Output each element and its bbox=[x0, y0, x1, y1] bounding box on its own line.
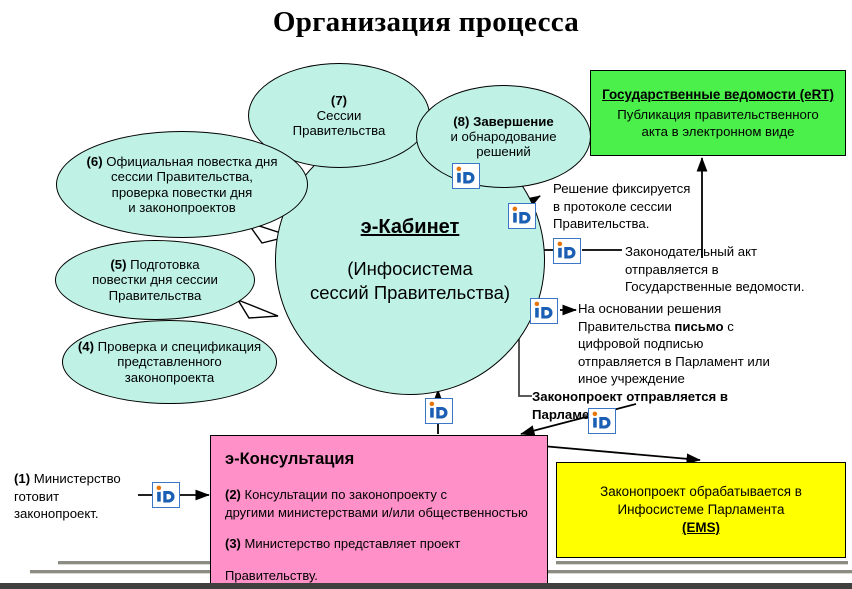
signed-letter-line2a: Правительства bbox=[578, 319, 674, 334]
ecabinet-subtitle-line1: (Инфосистема bbox=[310, 257, 510, 281]
tail-ellipse-5 bbox=[238, 300, 278, 318]
text-bill-to-parliament: Законопроект отправляется в Парламент bbox=[532, 388, 782, 423]
node-step-5[interactable]: (5) Подготовка повестки дня сессии Прави… bbox=[55, 240, 255, 320]
step-1-line1: Министерство bbox=[30, 471, 121, 486]
id-card-icon[interactable] bbox=[152, 482, 180, 508]
signed-letter-line4: отправляется в Парламент или bbox=[578, 353, 838, 371]
id-card-icon[interactable] bbox=[508, 203, 536, 229]
step-7-line2: Правительства bbox=[293, 123, 386, 138]
step-5-line2: повестки дня сессии bbox=[92, 272, 218, 287]
signed-letter-line2: Правительства письмо с bbox=[578, 318, 838, 336]
consultation-item-3-number: (3) bbox=[225, 536, 241, 551]
consultation-item-2-line1: Консультации по законопроекту с bbox=[241, 487, 447, 502]
ems-line1: Законопроект обрабатывается в bbox=[557, 483, 845, 501]
id-card-icon[interactable] bbox=[530, 298, 558, 324]
id-card-icon[interactable] bbox=[588, 408, 616, 434]
bill-to-parliament-line1: Законопроект отправляется в bbox=[532, 388, 782, 406]
gazette-heading: Государственные ведомости (eRT) bbox=[591, 86, 845, 103]
consultation-item-2-number: (2) bbox=[225, 487, 241, 502]
diagram-canvas: Организация процесса bbox=[0, 0, 852, 589]
divider-rule-upper-right bbox=[556, 561, 848, 565]
arrow-consultation-to-ems bbox=[542, 446, 700, 460]
node-parliament-ems[interactable]: Законопроект обрабатывается в Инфосистем… bbox=[556, 462, 846, 558]
step-6-line1: Официальная повестка дня bbox=[103, 154, 278, 169]
step-4-line3: законопроекта bbox=[78, 370, 261, 385]
node-e-consultation[interactable]: э-Консультация (2) Консультации по закон… bbox=[210, 435, 548, 589]
consultation-item-2-line2: другими министерствами и/или общественно… bbox=[225, 505, 528, 520]
gazette-line2: акта в электронном виде bbox=[591, 123, 845, 140]
step-1-number: (1) bbox=[14, 471, 30, 486]
signed-letter-line1: На основании решения bbox=[578, 300, 838, 318]
id-card-icon[interactable] bbox=[452, 163, 480, 189]
step-4-line1: Проверка и спецификация bbox=[94, 339, 261, 354]
consultation-item-3-cont: Правительству. bbox=[225, 567, 547, 585]
decision-protocol-line3: Правительства. bbox=[553, 215, 713, 233]
node-step-4[interactable]: (4) Проверка и спецификация представленн… bbox=[62, 320, 277, 404]
step-7-line1: Сессии bbox=[293, 108, 386, 123]
text-signed-letter: На основании решения Правительства письм… bbox=[578, 300, 838, 388]
step-8-line3: решений bbox=[450, 144, 556, 159]
step-1-line2: готовит bbox=[14, 489, 59, 504]
legislative-act-line2: отправляется в bbox=[625, 261, 840, 279]
consultation-item-3-line1: Министерство представляет проект bbox=[241, 536, 460, 551]
signed-letter-line2c: с bbox=[724, 319, 734, 334]
legislative-act-line1: Законодательный акт bbox=[625, 243, 840, 261]
id-card-icon[interactable] bbox=[425, 398, 453, 424]
step-6-line3: проверка повестки дня bbox=[87, 185, 278, 200]
step-5-number: (5) bbox=[110, 257, 126, 272]
step-5-line1: Подготовка bbox=[127, 257, 200, 272]
decision-protocol-line1: Решение фиксируется bbox=[553, 180, 713, 198]
step-6-line2: сессии Правительства, bbox=[87, 169, 278, 184]
step-6-line4: и законопроектов bbox=[87, 200, 278, 215]
node-government-gazette[interactable]: Государственные ведомости (eRT) Публикац… bbox=[590, 70, 846, 156]
ecabinet-heading: э-Кабинет bbox=[310, 214, 510, 240]
ems-line2: Инфосистеме Парламента bbox=[557, 501, 845, 519]
step-5-line3: Правительства bbox=[92, 288, 218, 303]
node-step-8[interactable]: (8) Завершение и обнародование решений bbox=[416, 85, 591, 188]
consultation-heading: э-Консультация bbox=[225, 448, 547, 470]
gazette-line1: Публикация правительственного bbox=[591, 106, 845, 123]
step-8-line1: (8) Завершение bbox=[450, 114, 556, 129]
step-4-number: (4) bbox=[78, 339, 94, 354]
page-title: Организация процесса bbox=[0, 6, 852, 39]
signed-letter-line3: цифровой подписью bbox=[578, 335, 838, 353]
signed-letter-keyword: письмо bbox=[674, 319, 723, 334]
step-8-line2: и обнародование bbox=[450, 129, 556, 144]
text-step-1: (1) Министерство готовит законопроект. bbox=[14, 470, 154, 523]
node-step-6[interactable]: (6) Официальная повестка дня сессии Прав… bbox=[56, 131, 308, 238]
consultation-item-3: (3) Министерство представляет проект bbox=[225, 535, 547, 553]
bill-to-parliament-line2: Парламент bbox=[532, 406, 782, 424]
consultation-item-2: (2) Консультации по законопроекту сдруги… bbox=[225, 486, 547, 521]
step-4-line2: представленного bbox=[78, 354, 261, 369]
decision-protocol-line2: в протоколе сессии bbox=[553, 198, 713, 216]
ems-acronym: (EMS) bbox=[557, 519, 845, 537]
step-1-line3: законопроект. bbox=[14, 506, 99, 521]
id-card-icon[interactable] bbox=[553, 238, 581, 264]
step-6-number: (6) bbox=[87, 154, 103, 169]
footer-strip bbox=[0, 583, 852, 589]
signed-letter-line5: иное учреждение bbox=[578, 370, 838, 388]
text-decision-protocol: Решение фиксируется в протоколе сессии П… bbox=[553, 180, 713, 233]
ecabinet-subtitle-line2: сессий Правительства) bbox=[310, 281, 510, 305]
legislative-act-line3: Государственные ведомости. bbox=[625, 278, 840, 296]
text-legislative-act: Законодательный акт отправляется в Госуд… bbox=[625, 243, 840, 296]
step-7-number: (7) bbox=[293, 93, 386, 108]
